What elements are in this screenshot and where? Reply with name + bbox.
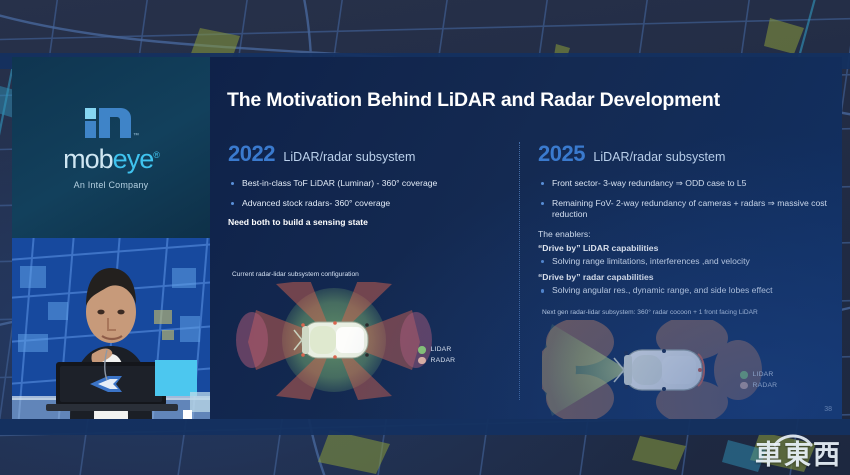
legend-item: RADAR [740, 382, 777, 390]
enablers-label: The enablers: [538, 229, 830, 239]
column-heading: 2022 LiDAR/radar subsystem [228, 141, 508, 167]
legend-dot-lidar [740, 371, 748, 379]
diagram-legend: LIDAR RADAR [418, 346, 455, 364]
legend-label: LIDAR [431, 346, 452, 353]
overlay-square-cyan [155, 360, 197, 396]
legend-label: LIDAR [753, 371, 774, 378]
year-label: 2025 [538, 141, 585, 166]
legend-dot-radar [740, 382, 748, 390]
mobileye-m-mark: ™ [83, 106, 139, 140]
legend-dot-radar [418, 357, 426, 365]
legend-item: RADAR [418, 357, 455, 365]
diagram-figure [542, 320, 832, 419]
legend-item: LIDAR [418, 346, 455, 354]
current-radar-lidar-diagram: Current radar-lidar subsystem configurat… [232, 271, 502, 405]
list-item: Advanced stock radars- 360° coverage [228, 198, 508, 210]
diagram-caption: Next gen radar-lidar subsystem: 360° rad… [542, 309, 832, 316]
bullet-list: Front sector- 3-way redundancy ⇒ ODD cas… [538, 178, 830, 221]
wordmark-eye: eye [113, 144, 154, 174]
subtitle-label: LiDAR/radar subsystem [593, 150, 725, 164]
legend-item: LIDAR [740, 371, 777, 379]
background-band-bottom [0, 419, 850, 435]
diagram-caption: Current radar-lidar subsystem configurat… [232, 271, 502, 278]
screenshot-root: ™ mobeye® An Intel Company [0, 0, 850, 475]
subtitle-label: LiDAR/radar subsystem [283, 150, 415, 164]
next-gen-radar-lidar-diagram: Next gen radar-lidar subsystem: 360° rad… [542, 309, 832, 419]
legend-label: RADAR [431, 357, 456, 364]
vehicle-top-view [614, 349, 704, 391]
slide-title: The Motivation Behind LiDAR and Radar De… [227, 89, 720, 112]
group-heading-radar: “Drive by” radar capabilities [538, 272, 830, 282]
bullet-list-lidar: Solving range limitations, interferences… [538, 256, 830, 268]
overlay-square-pale [190, 392, 210, 412]
list-item: Best-in-class ToF LiDAR (Luminar) - 360°… [228, 178, 508, 190]
legend-label: RADAR [753, 382, 778, 389]
group-heading-lidar: “Drive by” LiDAR capabilities [538, 243, 830, 253]
mobileye-logo-card: ™ mobeye® An Intel Company [12, 57, 210, 238]
list-item: Front sector- 3-way redundancy ⇒ ODD cas… [538, 178, 830, 190]
list-item: Solving range limitations, interferences… [538, 256, 830, 268]
bullet-list: Best-in-class ToF LiDAR (Luminar) - 360°… [228, 178, 508, 209]
list-item: Remaining FoV- 2-way redundancy of camer… [538, 198, 830, 221]
column-2022: 2022 LiDAR/radar subsystem Best-in-class… [228, 141, 508, 230]
watermark: 車東西 [755, 442, 842, 469]
year-label: 2022 [228, 141, 275, 166]
column-2025: 2025 LiDAR/radar subsystem Front sector-… [538, 141, 830, 302]
emphasis-line: Need both to build a sensing state [228, 217, 508, 227]
trademark-mark: ™ [133, 132, 139, 139]
column-heading: 2025 LiDAR/radar subsystem [538, 141, 830, 167]
column-divider [519, 142, 520, 400]
legend-dot-lidar [418, 346, 426, 354]
registered-mark: ® [153, 150, 159, 160]
presentation-slide: The Motivation Behind LiDAR and Radar De… [210, 57, 842, 419]
watermark-text: 車東西 [755, 442, 842, 469]
diagram-figure [232, 282, 502, 400]
mobileye-wordmark: mobeye® [63, 146, 159, 173]
list-item: Solving angular res., dynamic range, and… [538, 285, 830, 297]
diagram-legend: LIDAR RADAR [740, 371, 777, 389]
slide-page-number: 38 [824, 406, 832, 413]
mobileye-tagline: An Intel Company [74, 180, 149, 190]
vehicle-top-view [294, 321, 369, 359]
overlay-square-white [183, 410, 192, 419]
bullet-list-radar: Solving angular res., dynamic range, and… [538, 285, 830, 297]
wordmark-mob: mob [63, 144, 113, 174]
